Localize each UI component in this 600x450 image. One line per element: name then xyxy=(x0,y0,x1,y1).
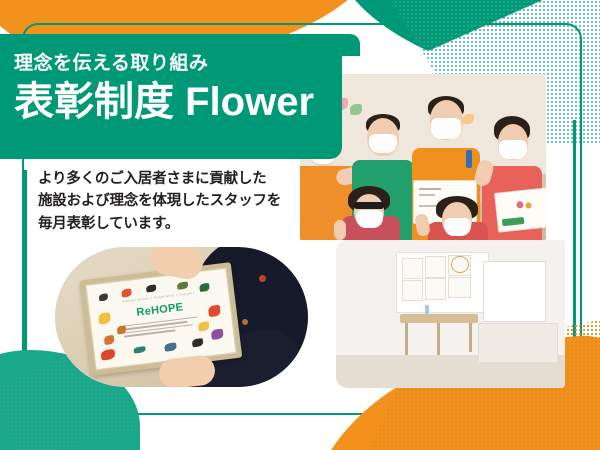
wooden-table xyxy=(400,314,478,323)
bottle-on-table xyxy=(425,305,429,315)
glasses xyxy=(354,202,384,209)
deco-leaf-olive xyxy=(176,282,188,290)
face-mask xyxy=(499,140,527,159)
face-mask xyxy=(444,218,471,236)
wall-note xyxy=(402,258,422,279)
wall-note xyxy=(425,256,445,277)
lead-line-3: 毎月表彰しています。 xyxy=(38,213,310,235)
face-mask xyxy=(369,134,397,153)
deco-coral-red xyxy=(100,348,115,360)
pen-in-pocket xyxy=(466,150,472,168)
lead-line-2: 施設および理念を体現したスタッフを xyxy=(38,190,310,212)
face-mask xyxy=(356,210,383,228)
certificate-flower-orange xyxy=(525,202,532,209)
certificate-line xyxy=(419,194,435,196)
teal-right-stripe xyxy=(573,120,576,420)
certificate-ribbon xyxy=(502,217,525,226)
whiteboard xyxy=(483,261,547,322)
deco-leaf-dark-2 xyxy=(146,284,157,292)
deco-grass-blue xyxy=(164,343,177,352)
lead-paragraph: より多くのご入居者さまに貢献した 施設および理念を体現したスタッフを 毎月表彰し… xyxy=(38,168,310,235)
wall-flower-orange xyxy=(463,114,474,124)
lead-line-1: より多くのご入居者さまに貢献した xyxy=(38,168,310,190)
headline-banner: 理念を伝える取り組み 表彰制度 Flower xyxy=(0,40,342,159)
certificate-paper: Rehabilitation × Hospitality × Support R… xyxy=(85,268,236,371)
deco-leaf-red xyxy=(121,289,132,298)
deco-flower-purple xyxy=(210,328,223,339)
deco-flower-yellow xyxy=(98,312,111,324)
wall-note xyxy=(448,277,471,298)
wall-circle-mark xyxy=(451,256,469,273)
wall-flower-green xyxy=(350,104,362,115)
photo-award-certificate: Rehabilitation × Hospitality × Support R… xyxy=(55,247,308,387)
photo-award-ceremony xyxy=(336,240,565,388)
certificate-line xyxy=(419,188,441,190)
table-leg xyxy=(405,323,408,356)
deco-leaf-dark xyxy=(99,293,109,301)
poster-canvas: 理念を伝える取り組み 表彰制度 Flower より多くのご入居者さまに貢献した … xyxy=(0,0,600,450)
banner-headline: 表彰制度 Flower xyxy=(14,80,342,125)
award-certificate-held-2 xyxy=(494,187,546,232)
table-leg xyxy=(437,323,440,356)
teal-left-stripe xyxy=(24,170,27,380)
wall-note xyxy=(425,278,445,299)
wall-note xyxy=(402,280,422,301)
jacket-badge xyxy=(259,275,266,282)
hand-bottom xyxy=(158,354,217,387)
banner-kicker: 理念を伝える取り組み xyxy=(14,53,342,76)
peace-sign-hand xyxy=(334,220,346,240)
deco-wave-teal xyxy=(133,346,146,353)
cabinet xyxy=(478,323,558,363)
certificate-flower-red xyxy=(516,201,524,209)
deco-leaf-orange xyxy=(104,335,115,345)
deco-leaf-dark-3 xyxy=(192,338,204,347)
certificate-frame: Rehabilitation × Hospitality × Support R… xyxy=(80,262,243,376)
jacket-button xyxy=(242,319,248,325)
deco-flower-yellow-2 xyxy=(198,322,210,332)
table-leg xyxy=(469,323,472,353)
deco-flower-red xyxy=(207,305,220,317)
face-mask xyxy=(431,118,461,139)
